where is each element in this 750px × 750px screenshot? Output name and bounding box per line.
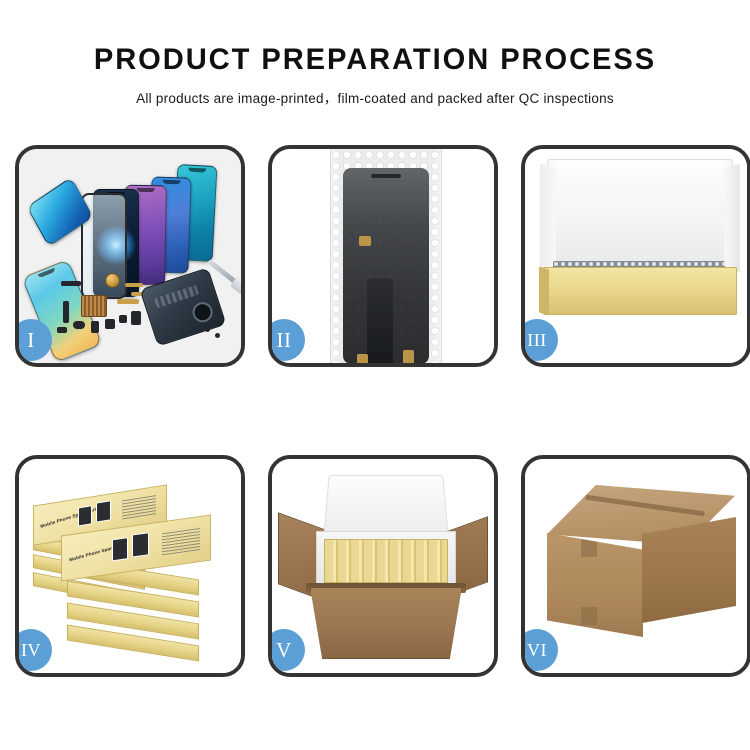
process-grid: I II	[15, 145, 735, 677]
header: PRODUCT PREPARATION PROCESS All products…	[0, 0, 750, 107]
small-part	[131, 311, 141, 325]
page-title: PRODUCT PREPARATION PROCESS	[11, 44, 739, 76]
small-part	[105, 319, 115, 329]
stacked-boxes-illustration: Mobile Phone Spare Parts	[19, 459, 241, 673]
box-artwork-swatch	[132, 532, 149, 557]
process-row-2: Mobile Phone Spare Parts	[15, 455, 735, 677]
flex-cable-part	[367, 278, 393, 363]
carton-tape-tab	[581, 607, 597, 625]
flex-cable-part	[125, 283, 143, 287]
notch-icon	[188, 168, 206, 173]
notch-icon	[137, 188, 155, 192]
notch-icon	[38, 268, 56, 278]
screw-part	[215, 333, 220, 338]
inner-box-illustration	[525, 149, 747, 363]
box-artwork-swatch	[78, 505, 92, 526]
process-step-4: Mobile Phone Spare Parts	[15, 455, 245, 677]
process-step-5: V	[268, 455, 498, 677]
step-1-image: I	[19, 149, 241, 363]
page-subtitle: All products are image-printed，film-coat…	[0, 87, 750, 107]
small-part	[119, 315, 127, 323]
gold-tape-tab	[403, 350, 414, 363]
step-2-image: II	[272, 149, 494, 363]
process-step-6: VI	[521, 455, 750, 677]
screw-part	[205, 327, 210, 332]
step-3-image: III	[525, 149, 747, 363]
process-step-3: III	[521, 145, 750, 367]
foam-carton-illustration	[272, 459, 494, 673]
small-part	[61, 281, 81, 286]
step-5-image: V	[272, 459, 494, 673]
phone-parts-illustration	[19, 149, 241, 363]
carton-left-face	[547, 533, 643, 637]
bubble-wrap-bag	[330, 149, 442, 363]
gold-tape-tab	[359, 236, 371, 246]
box-stack: Mobile Phone Spare Parts	[27, 473, 241, 663]
process-step-1: I	[15, 145, 245, 367]
box-artwork-swatch	[96, 500, 111, 522]
chip-grid-part	[81, 295, 107, 317]
small-part	[57, 327, 67, 333]
box-spec-lines	[162, 526, 200, 555]
carton-tape-tab	[581, 539, 597, 557]
box-spec-lines	[122, 494, 156, 519]
box-artwork-swatch	[112, 537, 128, 561]
speaker-part	[105, 273, 120, 288]
process-step-2: II	[268, 145, 498, 367]
product-preparation-infographic: PRODUCT PREPARATION PROCESS All products…	[0, 0, 750, 750]
yellow-box-base	[543, 267, 737, 315]
notch-icon	[162, 180, 180, 185]
carton-right-face	[642, 517, 736, 623]
small-part	[91, 321, 99, 333]
carton-body	[310, 587, 462, 659]
process-row-1: I II	[15, 145, 735, 367]
packed-yellow-boxes	[324, 539, 448, 583]
step-4-image: Mobile Phone Spare Parts	[19, 459, 241, 673]
flex-cable-part	[117, 299, 139, 304]
step-6-image: VI	[525, 459, 747, 673]
sealed-carton-illustration	[525, 459, 747, 673]
small-part	[73, 321, 85, 329]
bubble-wrap-illustration	[272, 149, 494, 363]
gold-tape-tab	[357, 354, 368, 363]
small-part	[63, 301, 69, 323]
